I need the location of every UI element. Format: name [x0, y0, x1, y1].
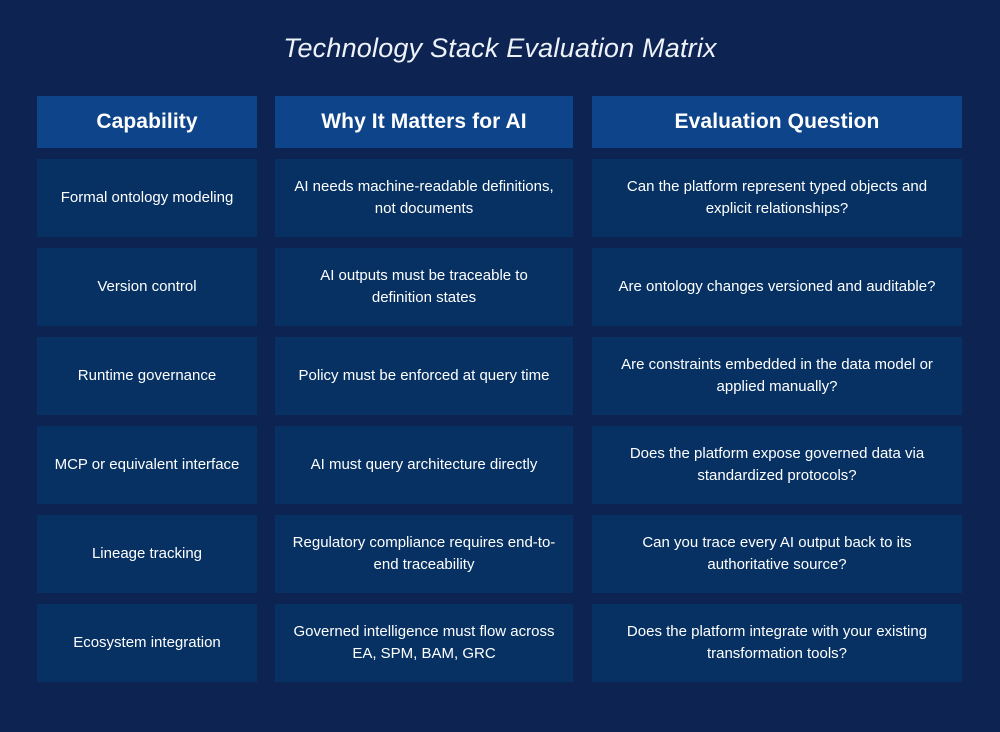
cell-capability: Lineage tracking: [37, 515, 257, 593]
cell-why-it-matters: Regulatory compliance requires end-to-en…: [275, 515, 573, 593]
cell-evaluation-question-text: Can you trace every AI output back to it…: [606, 532, 948, 576]
column-header-capability: Capability: [37, 96, 257, 148]
cell-capability-text: Ecosystem integration: [51, 632, 243, 654]
cell-why-it-matters: AI needs machine-readable definitions, n…: [275, 159, 573, 237]
table-header-row: Capability Why It Matters for AI Evaluat…: [37, 96, 963, 148]
cell-capability-text: Runtime governance: [51, 365, 243, 387]
cell-why-it-matters-text: AI must query architecture directly: [289, 454, 559, 476]
table-row: Ecosystem integration Governed intellige…: [37, 604, 963, 682]
table-row: Version control AI outputs must be trace…: [37, 248, 963, 326]
cell-why-it-matters-text: AI outputs must be traceable to definiti…: [289, 265, 559, 309]
cell-evaluation-question: Are constraints embedded in the data mod…: [592, 337, 962, 415]
column-header-why-it-matters: Why It Matters for AI: [275, 96, 573, 148]
cell-evaluation-question: Can you trace every AI output back to it…: [592, 515, 962, 593]
cell-capability: Runtime governance: [37, 337, 257, 415]
table-row: Formal ontology modeling AI needs machin…: [37, 159, 963, 237]
cell-evaluation-question-text: Are constraints embedded in the data mod…: [606, 354, 948, 398]
page-title: Technology Stack Evaluation Matrix: [0, 28, 1000, 68]
table-row: MCP or equivalent interface AI must quer…: [37, 426, 963, 504]
cell-evaluation-question-text: Does the platform integrate with your ex…: [606, 621, 948, 665]
cell-capability-text: Version control: [51, 276, 243, 298]
cell-why-it-matters: Governed intelligence must flow across E…: [275, 604, 573, 682]
cell-why-it-matters-text: AI needs machine-readable definitions, n…: [289, 176, 559, 220]
cell-capability: Formal ontology modeling: [37, 159, 257, 237]
cell-capability: MCP or equivalent interface: [37, 426, 257, 504]
evaluation-matrix-table: Capability Why It Matters for AI Evaluat…: [37, 96, 963, 682]
cell-evaluation-question: Does the platform expose governed data v…: [592, 426, 962, 504]
cell-evaluation-question: Does the platform integrate with your ex…: [592, 604, 962, 682]
cell-why-it-matters-text: Regulatory compliance requires end-to-en…: [289, 532, 559, 576]
cell-capability-text: MCP or equivalent interface: [51, 454, 243, 476]
cell-why-it-matters-text: Policy must be enforced at query time: [289, 365, 559, 387]
cell-why-it-matters: AI outputs must be traceable to definiti…: [275, 248, 573, 326]
cell-why-it-matters: Policy must be enforced at query time: [275, 337, 573, 415]
cell-evaluation-question-text: Can the platform represent typed objects…: [606, 176, 948, 220]
cell-evaluation-question: Are ontology changes versioned and audit…: [592, 248, 962, 326]
table-row: Lineage tracking Regulatory compliance r…: [37, 515, 963, 593]
cell-evaluation-question-text: Does the platform expose governed data v…: [606, 443, 948, 487]
cell-capability: Version control: [37, 248, 257, 326]
cell-evaluation-question: Can the platform represent typed objects…: [592, 159, 962, 237]
cell-why-it-matters: AI must query architecture directly: [275, 426, 573, 504]
cell-why-it-matters-text: Governed intelligence must flow across E…: [289, 621, 559, 665]
column-header-evaluation-question: Evaluation Question: [592, 96, 962, 148]
cell-evaluation-question-text: Are ontology changes versioned and audit…: [606, 276, 948, 298]
cell-capability-text: Formal ontology modeling: [51, 187, 243, 209]
table-row: Runtime governance Policy must be enforc…: [37, 337, 963, 415]
cell-capability-text: Lineage tracking: [51, 543, 243, 565]
cell-capability: Ecosystem integration: [37, 604, 257, 682]
matrix-canvas: Technology Stack Evaluation Matrix Capab…: [0, 0, 1000, 732]
